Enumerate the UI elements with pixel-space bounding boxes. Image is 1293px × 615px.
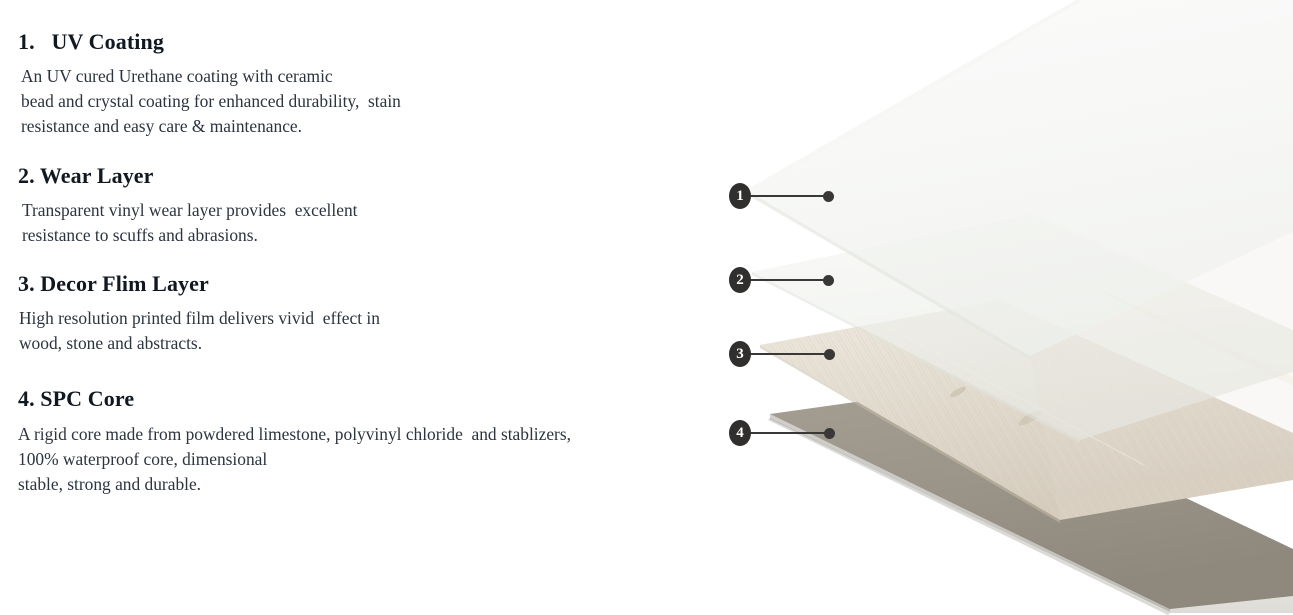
spec-text-column: 1. UV Coating An UV cured Urethane coati… [0, 0, 700, 615]
callout-bullet-3: 3 [729, 341, 751, 367]
section-heading-spc-core: 4. SPC Core [0, 386, 690, 412]
section-body-decor-film-layer: High resolution printed film delivers vi… [0, 297, 690, 356]
callout-3[interactable]: 3 [729, 341, 835, 367]
callout-endpoint-dot-1 [823, 191, 834, 202]
section-body-wear-layer: Transparent vinyl wear layer provides ex… [0, 189, 690, 248]
spec-section-wear-layer: 2. Wear Layer Transparent vinyl wear lay… [0, 163, 690, 248]
flooring-layer-illustration [700, 0, 1293, 615]
callout-leader-line-1 [749, 195, 824, 197]
callout-2[interactable]: 2 [729, 267, 834, 293]
spec-section-uv-coating: 1. UV Coating An UV cured Urethane coati… [0, 29, 690, 140]
callout-1[interactable]: 1 [729, 183, 834, 209]
callout-bullet-2: 2 [729, 267, 751, 293]
callout-endpoint-dot-3 [824, 349, 835, 360]
callout-endpoint-dot-4 [824, 428, 835, 439]
callout-4[interactable]: 4 [729, 420, 835, 446]
section-body-spc-core: A rigid core made from powdered limeston… [0, 412, 690, 498]
section-body-uv-coating: An UV cured Urethane coating with cerami… [0, 55, 690, 140]
section-heading-decor-film-layer: 3. Decor Flim Layer [0, 271, 690, 297]
callout-bullet-4: 4 [729, 420, 751, 446]
callout-leader-line-4 [749, 432, 825, 434]
callout-leader-line-3 [749, 353, 825, 355]
section-heading-wear-layer: 2. Wear Layer [0, 163, 690, 189]
callout-bullet-1: 1 [729, 183, 751, 209]
callout-endpoint-dot-2 [823, 275, 834, 286]
spec-section-decor-film-layer: 3. Decor Flim Layer High resolution prin… [0, 271, 690, 356]
spec-section-spc-core: 4. SPC Core A rigid core made from powde… [0, 386, 690, 498]
callout-leader-line-2 [749, 279, 824, 281]
section-heading-uv-coating: 1. UV Coating [0, 29, 690, 55]
